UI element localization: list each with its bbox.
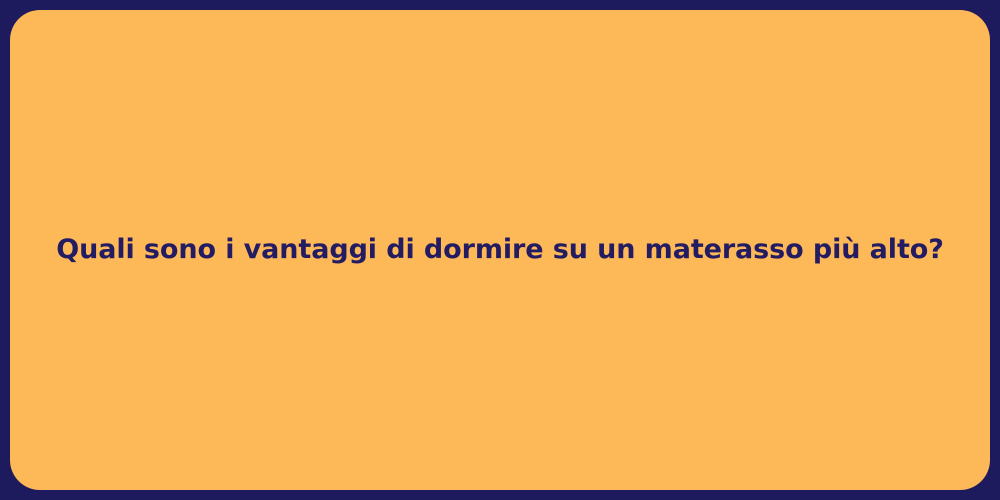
banner-heading: Quali sono i vantaggi di dormire su un m… (56, 233, 944, 267)
banner-frame: Quali sono i vantaggi di dormire su un m… (0, 0, 1000, 500)
banner-panel: Quali sono i vantaggi di dormire su un m… (10, 10, 990, 490)
